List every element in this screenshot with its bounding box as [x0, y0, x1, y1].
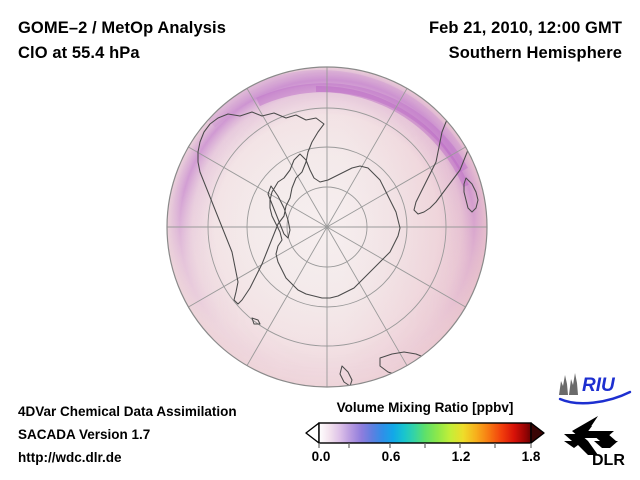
colorbar-title: Volume Mixing Ratio [ppbv] — [305, 400, 545, 415]
dlr-logo-text: DLR — [592, 452, 625, 469]
colorbar-tick-2: 1.2 — [452, 449, 471, 464]
footer-line-url[interactable]: http://wdc.dlr.de — [18, 446, 237, 469]
page-title: GOME–2 / MetOp Analysis — [18, 16, 226, 41]
riu-spikes-icon — [559, 373, 578, 395]
colorbar: Volume Mixing Ratio [ppbv] — [305, 400, 545, 467]
footer-credits: 4DVar Chemical Data Assimilation SACADA … — [18, 400, 237, 469]
colorbar-tick-3: 1.8 — [522, 449, 541, 464]
coastline-tasmania — [416, 384, 426, 388]
figure-canvas: GOME–2 / MetOp Analysis ClO at 55.4 hPa … — [0, 0, 640, 480]
colorbar-gradient — [319, 423, 531, 443]
colorbar-over-arrow — [531, 423, 544, 443]
riu-logo: RIU — [556, 371, 634, 410]
hemisphere-label: Southern Hemisphere — [429, 41, 622, 66]
colorbar-tick-labels: 0.0 0.6 1.2 1.8 — [305, 449, 545, 467]
colorbar-scale — [305, 422, 545, 448]
footer-line-method: 4DVar Chemical Data Assimilation — [18, 400, 237, 423]
header-left: GOME–2 / MetOp Analysis ClO at 55.4 hPa — [18, 16, 226, 66]
timestamp-label: Feb 21, 2010, 12:00 GMT — [429, 16, 622, 41]
dlr-logo: DLR — [558, 414, 634, 475]
riu-logo-svg: RIU — [556, 371, 634, 405]
header-right: Feb 21, 2010, 12:00 GMT Southern Hemisph… — [429, 16, 622, 66]
colorbar-tick-marks — [319, 443, 531, 448]
colorbar-tick-0: 0.0 — [312, 449, 331, 464]
page-subtitle: ClO at 55.4 hPa — [18, 41, 226, 66]
colorbar-tick-1: 0.6 — [382, 449, 401, 464]
globe-map — [166, 66, 488, 388]
dlr-logo-svg: DLR — [558, 414, 634, 470]
colorbar-under-arrow — [306, 423, 319, 443]
riu-logo-text: RIU — [582, 375, 616, 396]
dlr-bird-icon — [564, 416, 618, 455]
footer-line-version: SACADA Version 1.7 — [18, 423, 237, 446]
globe-svg — [166, 66, 488, 388]
